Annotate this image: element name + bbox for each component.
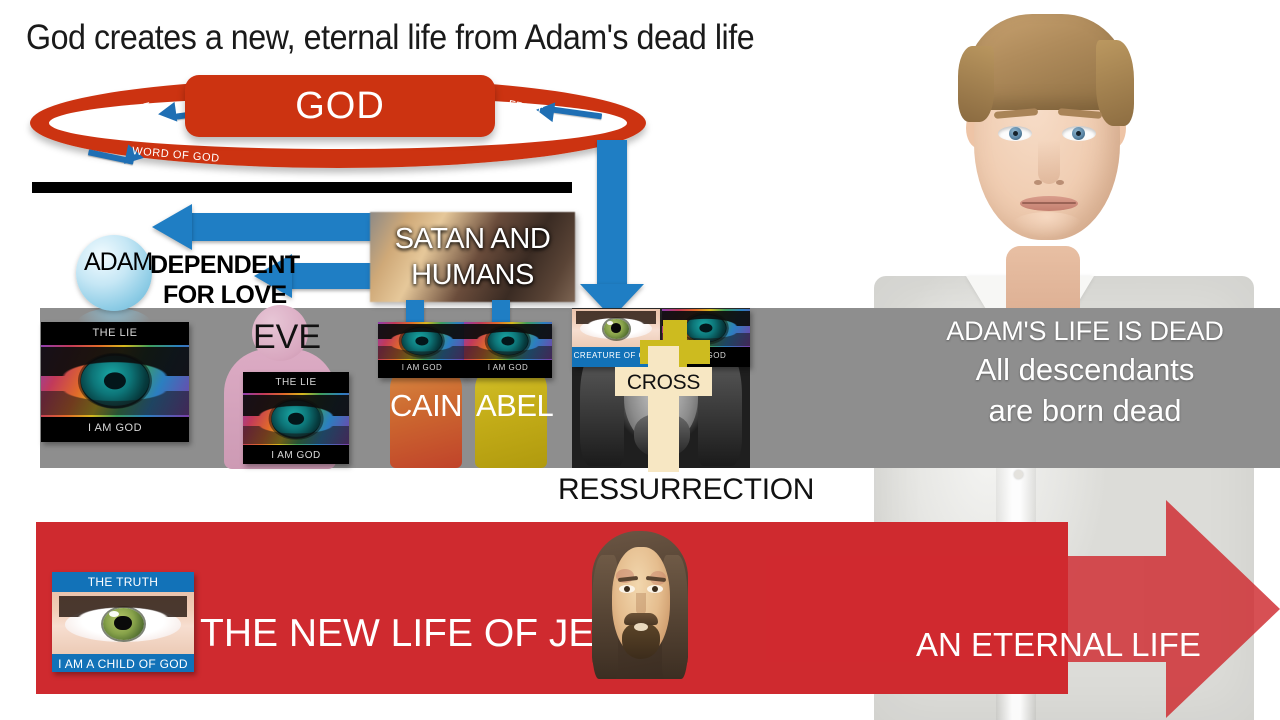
- lip-line: [1022, 202, 1076, 204]
- eyelash-top: [576, 311, 655, 324]
- cain-eye-card: I AM GOD: [378, 322, 466, 378]
- eyelash-top: [243, 395, 349, 416]
- stylized-eye-icon: [41, 345, 189, 417]
- god-to-cross-arrow-shaft: [597, 140, 627, 290]
- eyelash-top: [41, 347, 189, 376]
- pupil-left: [1013, 131, 1018, 136]
- black-separator-bar: [32, 182, 572, 193]
- slide-canvas: God creates a new, eternal life from Ada…: [0, 0, 1280, 720]
- cross-label: CROSS: [615, 368, 712, 397]
- eve-eye-card: THE LIE I AM GOD: [243, 372, 349, 464]
- nose: [1038, 140, 1060, 184]
- eve-label: EVE: [253, 318, 321, 357]
- hair-side-left: [958, 46, 994, 122]
- adam-dead-overlay-text: ADAM'S LIFE IS DEAD All descendants are …: [900, 316, 1270, 429]
- eyelash-top: [464, 324, 552, 339]
- jesus-wc-lip: [634, 623, 648, 631]
- eternal-life-arrow-head: [1166, 500, 1280, 718]
- jesus-watercolor-portrait: [592, 519, 688, 679]
- satan-and-humans-label: SATAN AND HUMANS: [370, 212, 575, 302]
- adam-label: ADAM: [84, 248, 152, 277]
- dead-line-1: ADAM'S LIFE IS DEAD: [900, 316, 1270, 347]
- pupil-right: [1076, 131, 1081, 136]
- abel-eye-card: I AM GOD: [464, 322, 552, 378]
- jesus-wc-pupil-left: [624, 586, 630, 592]
- truth-card-top-caption: THE TRUTH: [52, 572, 194, 592]
- stylized-eye-icon: [243, 393, 349, 445]
- eve-eye-card-bottom-caption: I AM GOD: [243, 445, 349, 464]
- truth-eye-card: THE TRUTH I AM A CHILD OF GOD: [52, 572, 194, 672]
- pupil: [114, 616, 131, 631]
- nostril-right: [1056, 180, 1064, 185]
- eternal-life-arrow: [766, 500, 1280, 718]
- dependent-for-love-label: DEPENDENT FOR LOVE: [150, 250, 300, 310]
- dead-line-3: are born dead: [900, 392, 1270, 429]
- god-cycle-diagram: LOVE FRUIT WORD OF GOD GOD: [30, 78, 646, 178]
- satan-line-1: SATAN AND: [395, 221, 551, 257]
- cain-label: CAIN: [390, 388, 462, 424]
- nostril-left: [1034, 180, 1042, 185]
- dead-line-2: All descendants: [900, 351, 1270, 388]
- eyelash-top: [59, 596, 187, 617]
- eyelash-top: [378, 324, 466, 339]
- jesus-wc-nose: [636, 593, 646, 615]
- eve-eye-card-top-caption: THE LIE: [243, 372, 349, 393]
- dependent-line-1: DEPENDENT: [150, 251, 300, 279]
- jesus-wc-pupil-right: [652, 586, 658, 592]
- stylized-eye-icon: [378, 322, 466, 360]
- realistic-green-eye-icon: [52, 592, 194, 654]
- satan-line-2: HUMANS: [411, 257, 534, 293]
- eyelash-bottom: [464, 346, 552, 359]
- satan-to-adam-arrow1-head: [152, 204, 192, 250]
- adam-eye-card-top-caption: THE LIE: [41, 322, 189, 345]
- chin-highlight: [1012, 212, 1082, 238]
- adam-eye-card-bottom-caption: I AM GOD: [41, 417, 189, 440]
- cain-eye-card-caption: I AM GOD: [378, 360, 466, 376]
- adam-eye-card: THE LIE I AM GOD: [41, 322, 189, 442]
- pupil: [611, 323, 622, 332]
- stylized-eye-icon: [464, 322, 552, 360]
- abel-eye-card-caption: I AM GOD: [464, 360, 552, 376]
- cross-vertical-beam: [648, 346, 679, 472]
- abel-label: ABEL: [476, 388, 548, 424]
- eyelash-bottom: [378, 346, 466, 359]
- an-eternal-life-label: AN ETERNAL LIFE: [916, 626, 1201, 664]
- god-label-box: GOD: [185, 75, 495, 137]
- slide-title: God creates a new, eternal life from Ada…: [26, 18, 754, 58]
- eyelash-bottom: [243, 426, 349, 444]
- love-arrow-head: [157, 102, 178, 124]
- eyelash-bottom: [41, 391, 189, 415]
- shirt-button: [1014, 470, 1023, 479]
- truth-card-bottom-caption: I AM A CHILD OF GOD: [52, 654, 194, 672]
